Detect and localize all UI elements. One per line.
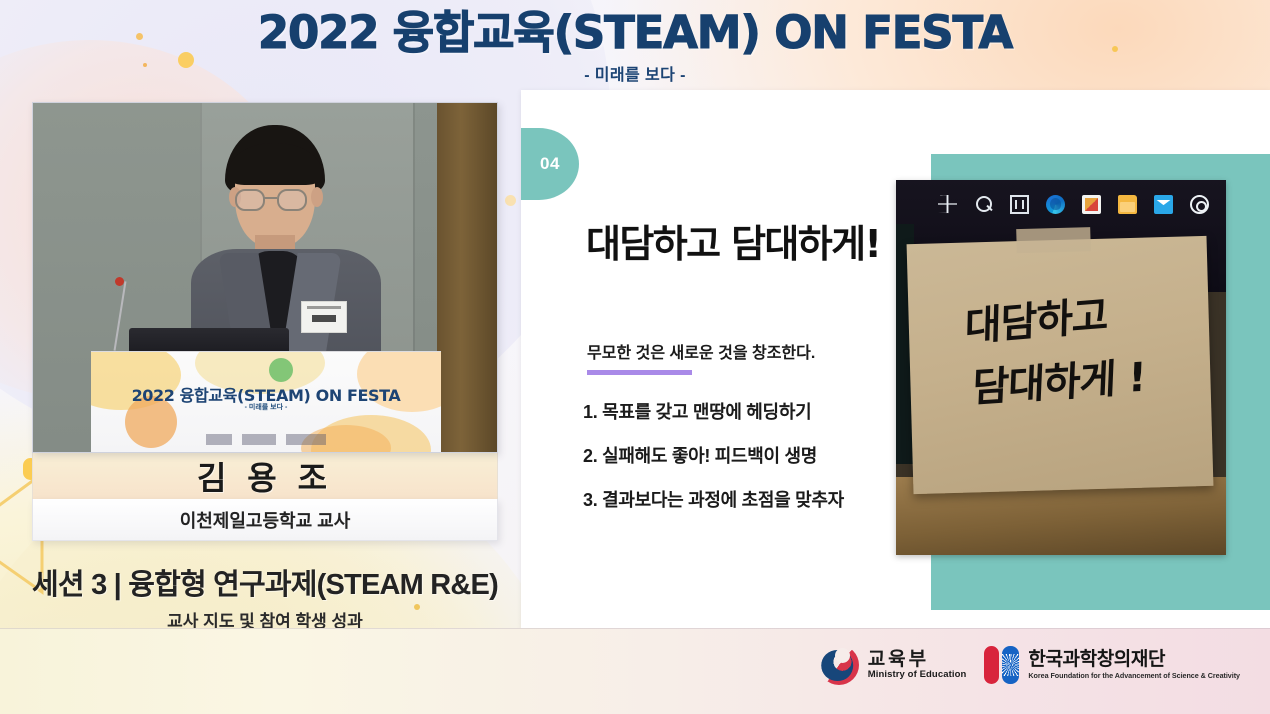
photo-handwriting-line-2: 담대하게 ! — [971, 344, 1146, 413]
speaker-glasses-left — [235, 189, 265, 211]
session-title: 세션 3 | 융합형 연구과제(STEAM R&E) — [32, 561, 498, 603]
kofac-name-en: Korea Foundation for the Advancement of … — [1028, 671, 1240, 680]
microsoft-store-icon — [1082, 195, 1101, 214]
speaker-glasses-right — [277, 189, 307, 211]
list-item: 3. 결과보다는 과정에 초점을 맞추자 — [583, 486, 844, 512]
presentation-slide[interactable]: 04 대담하고 담대하게! 무모한 것은 새로운 것을 창조한다. 1. 목표를… — [521, 90, 1270, 628]
file-explorer-icon — [1118, 195, 1137, 214]
moe-text: 교육부 Ministry of Education — [868, 650, 967, 681]
speaker-video-feed[interactable]: 2022 융합교육(STEAM) ON FESTA - 미래를 보다 - — [32, 102, 498, 453]
slide-lead-text: 무모한 것은 새로운 것을 창조한다. — [587, 339, 815, 363]
photo-paper-sign: 대담하고 담대하게 ! — [907, 236, 1214, 494]
edge-browser-icon — [1046, 195, 1065, 214]
kofac-blue-bar — [1002, 646, 1019, 684]
taegeuk-icon — [819, 645, 859, 685]
slide-section-number: 04 — [540, 154, 560, 174]
speaker-name-tag — [301, 301, 347, 333]
video-wood-column — [437, 103, 497, 452]
windows-taskbar — [896, 186, 1226, 222]
ministry-of-education-logo: 교육부 Ministry of Education — [819, 645, 967, 685]
speaker-panel: 2022 융합교육(STEAM) ON FESTA - 미래를 보다 - 김 용… — [32, 102, 498, 632]
footer-logos: 교육부 Ministry of Education 한국과학창의재단 Korea… — [819, 645, 1240, 685]
speaker-glasses-bridge — [263, 197, 277, 199]
kofac-text: 한국과학창의재단 Korea Foundation for the Advanc… — [1028, 650, 1240, 680]
task-view-icon — [1010, 195, 1029, 214]
speaker-name: 김 용 조 — [197, 453, 333, 499]
mail-icon — [1154, 195, 1173, 214]
event-header: 2022 융합교육(STEAM) ON FESTA - 미래를 보다 - — [0, 0, 1270, 96]
speaker-affiliation: 이천제일고등학교 교사 — [180, 507, 351, 533]
kofac-red-bar — [984, 646, 999, 684]
speaker-name-band: 김 용 조 — [32, 453, 498, 499]
kofac-name-kr: 한국과학창의재단 — [1028, 650, 1240, 671]
slide-lead-underline — [587, 370, 692, 375]
kofac-mark-icon — [984, 646, 1019, 684]
session-info: 세션 3 | 융합형 연구과제(STEAM R&E) 교사 지도 및 참여 학생… — [32, 561, 498, 632]
event-title: 2022 융합교육(STEAM) ON FESTA — [0, 9, 1270, 57]
photo-tape — [1016, 227, 1091, 253]
speaker-affiliation-band: 이천제일고등학교 교사 — [32, 499, 498, 541]
settings-gear-icon — [1190, 195, 1209, 214]
slide-section-badge: 04 — [521, 128, 579, 200]
slide-photo: 대담하고 담대하게 ! — [896, 180, 1226, 555]
microphone-head — [115, 277, 124, 286]
kofac-logo: 한국과학창의재단 Korea Foundation for the Advanc… — [984, 646, 1240, 684]
podium-banner-logos — [91, 431, 441, 449]
taegeuk-hole — [835, 648, 850, 663]
slide-bullet-list: 1. 목표를 갖고 맨땅에 헤딩하기 2. 실패해도 좋아! 피드백이 생명 3… — [583, 398, 844, 530]
event-subtitle: - 미래를 보다 - — [0, 61, 1270, 85]
speaker-ear-right — [311, 187, 323, 207]
photo-handwriting-line-1: 대담하고 — [964, 283, 1108, 353]
moe-name-en: Ministry of Education — [868, 669, 967, 680]
list-item: 1. 목표를 갖고 맨땅에 헤딩하기 — [583, 398, 844, 424]
list-item: 2. 실패해도 좋아! 피드백이 생명 — [583, 442, 844, 468]
footer-bar: 교육부 Ministry of Education 한국과학창의재단 Korea… — [0, 628, 1270, 714]
decor-dot-5 — [505, 195, 516, 206]
windows-start-icon — [938, 195, 957, 214]
slide-heading: 대담하고 담대하게! — [586, 213, 880, 268]
podium-banner-subtitle: - 미래를 보다 - — [91, 402, 441, 412]
search-icon — [974, 195, 993, 214]
moe-name-kr: 교육부 — [868, 650, 967, 670]
podium-banner: 2022 융합교육(STEAM) ON FESTA - 미래를 보다 - — [91, 352, 441, 453]
podium: 2022 융합교육(STEAM) ON FESTA - 미래를 보다 - — [91, 351, 441, 453]
